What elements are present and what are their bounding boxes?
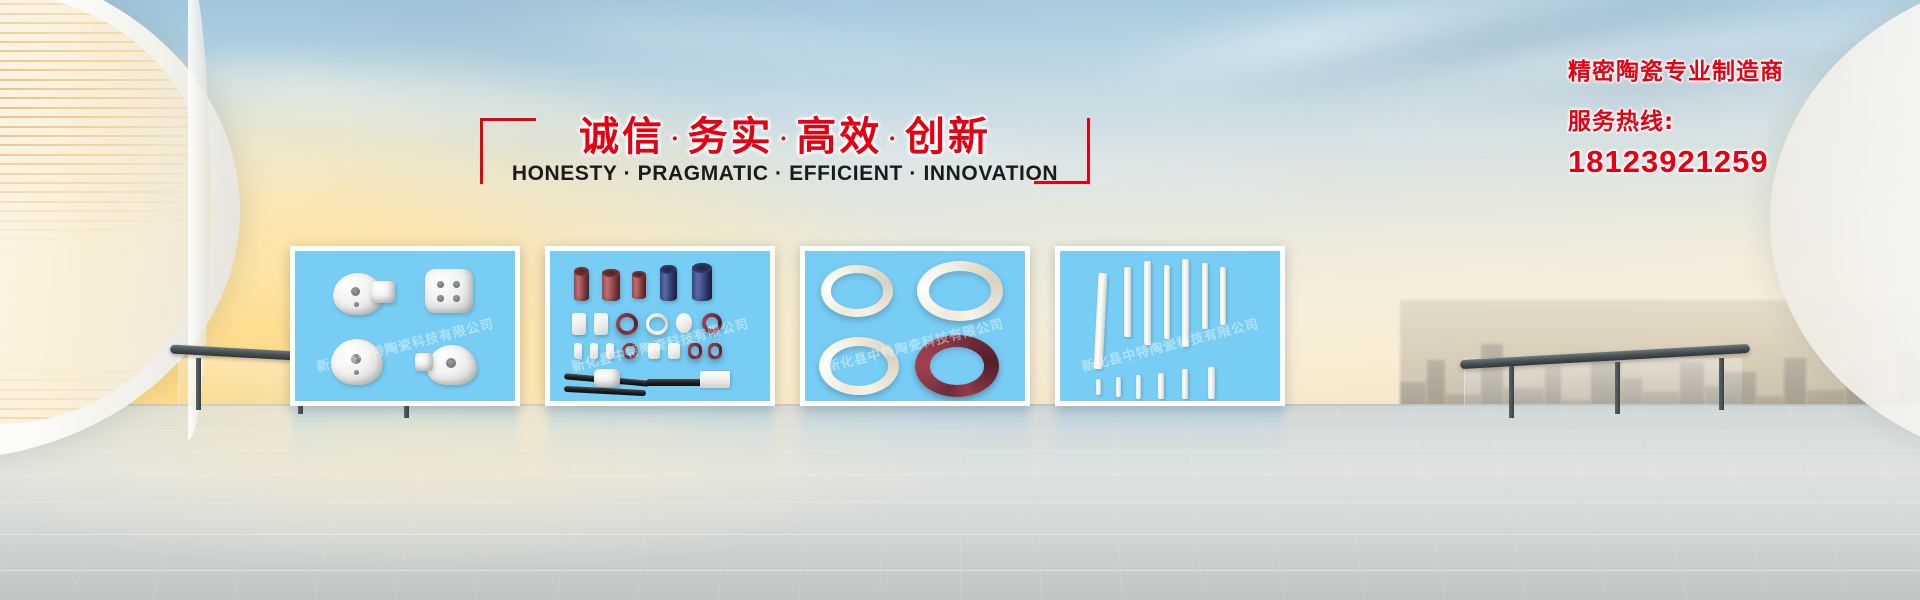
- slogan-chinese: 诚信·务实·高效·创新: [480, 104, 1090, 162]
- ceramic-pin: [1182, 369, 1188, 399]
- terminal-connector: [700, 371, 730, 388]
- tube-opening: [692, 263, 712, 273]
- product-panel-2-image: 新化县中特陶瓷科技有限公司: [550, 251, 770, 401]
- ceramic-rod: [1182, 259, 1189, 347]
- ceramic-tube-blue: [660, 265, 677, 301]
- ceramic-pin: [1096, 379, 1101, 395]
- product-panel-2[interactable]: 新化县中特陶瓷科技有限公司: [545, 246, 775, 406]
- holder-hole: [354, 302, 359, 307]
- railing-post: [196, 358, 201, 410]
- panel-reflection: [1057, 404, 1283, 474]
- image-watermark: 新化县中特陶瓷科技有限公司: [1079, 313, 1260, 375]
- tube-opening: [632, 271, 646, 278]
- ceramic-pin: [1116, 377, 1121, 397]
- ceramic-plate: [594, 313, 608, 335]
- tube-opening: [574, 267, 589, 276]
- promotional-banner: 诚信·务实·高效·创新 HONESTY · PRAGMATIC · EFFICI…: [0, 0, 1920, 600]
- slogan-block: 诚信·务实·高效·创新 HONESTY · PRAGMATIC · EFFICI…: [480, 104, 1090, 194]
- product-panel-3[interactable]: 新化县中特陶瓷科技有限公司: [800, 246, 1030, 406]
- holder-hole: [453, 295, 460, 302]
- ceramic-pin: [606, 343, 614, 359]
- ceramic-cap-dark: [688, 343, 702, 359]
- ceramic-pin: [668, 343, 680, 359]
- ceramic-pin: [574, 343, 582, 359]
- ceramic-pin: [1136, 375, 1141, 399]
- ceramic-rod: [1124, 267, 1131, 337]
- railing-post: [1615, 362, 1620, 414]
- panel-reflection: [547, 404, 773, 474]
- ceramic-seal-ring: [819, 337, 899, 395]
- product-panel-1[interactable]: 新化县中特陶瓷科技有限公司: [290, 246, 520, 406]
- holder-stem: [371, 281, 395, 303]
- holder-hole: [437, 281, 444, 288]
- hotline-number[interactable]: 18123921259: [1568, 144, 1908, 180]
- ceramic-rod: [1144, 261, 1151, 345]
- ceramic-ring-dark: [702, 313, 722, 333]
- slogan-cn-word-1: 诚信: [579, 113, 665, 160]
- panel-reflection: [802, 404, 1028, 474]
- holder-hole: [453, 281, 460, 288]
- curved-architecture: [0, 0, 270, 480]
- railing-post: [1719, 358, 1724, 410]
- holder-stem: [415, 353, 433, 371]
- ceramic-tube-red: [632, 271, 646, 299]
- ceramic-rod: [1202, 263, 1208, 329]
- ceramic-plate: [572, 313, 586, 335]
- ceramic-pin: [590, 343, 598, 359]
- ceramic-cap-dark: [708, 343, 722, 359]
- slogan-cn-word-2: 务实: [688, 113, 774, 160]
- company-tagline: 精密陶瓷专业制造商: [1568, 52, 1908, 86]
- ceramic-lamp-holder: [425, 269, 473, 313]
- ceramic-pin: [1208, 367, 1215, 399]
- ceramic-disc: [676, 313, 692, 333]
- holder-hole: [437, 295, 444, 302]
- ceramic-ring-white: [646, 313, 668, 335]
- ceramic-pin: [648, 343, 660, 359]
- ceramic-ring-dark: [622, 343, 638, 359]
- railing-post: [1509, 366, 1514, 418]
- ceramic-tube-red: [602, 269, 620, 301]
- holder-hole: [351, 287, 360, 296]
- ceramic-pin: [1158, 373, 1164, 399]
- ceramic-lamp-holder: [427, 345, 477, 385]
- slogan-cn-word-3: 高效: [796, 113, 882, 160]
- ceramic-seal-ring: [821, 265, 893, 317]
- product-panel-4-image: 新化县中特陶瓷科技有限公司: [1060, 251, 1280, 401]
- holder-hole: [354, 370, 359, 375]
- contact-block: 精密陶瓷专业制造商 服务热线: 18123921259: [1568, 52, 1908, 180]
- tube-opening: [660, 265, 677, 274]
- ceramic-connector-body: [594, 369, 620, 387]
- slogan-cn-word-4: 创新: [905, 113, 991, 160]
- ceramic-lamp-holder: [331, 339, 383, 385]
- slogan-cn-sep-2: ·: [780, 126, 791, 152]
- tube-opening: [602, 269, 620, 277]
- product-panel-3-image: 新化县中特陶瓷科技有限公司: [805, 251, 1025, 401]
- ceramic-ring-dark: [616, 313, 638, 335]
- slogan-cn-sep-1: ·: [671, 126, 682, 152]
- slogan-cn-sep-3: ·: [888, 126, 899, 152]
- ceramic-seal-ring: [917, 261, 1003, 321]
- ceramic-tube-blue: [692, 263, 712, 301]
- ceramic-rod: [1164, 265, 1170, 339]
- wire-lead: [564, 386, 646, 396]
- ceramic-rod: [1093, 273, 1107, 369]
- hotline-label: 服务热线:: [1568, 102, 1908, 136]
- ceramic-rod: [1220, 267, 1226, 325]
- holder-hole: [446, 358, 456, 368]
- holder-hole: [351, 354, 361, 364]
- slogan-english: HONESTY · PRAGMATIC · EFFICIENT · INNOVA…: [480, 162, 1090, 186]
- ceramic-tube-red: [574, 267, 589, 301]
- product-panel-4[interactable]: 新化县中特陶瓷科技有限公司: [1055, 246, 1285, 406]
- ceramic-seal-ring-dark: [915, 335, 999, 397]
- product-gallery: 新化县中特陶瓷科技有限公司: [290, 246, 1290, 406]
- product-panel-1-image: 新化县中特陶瓷科技有限公司: [295, 251, 515, 401]
